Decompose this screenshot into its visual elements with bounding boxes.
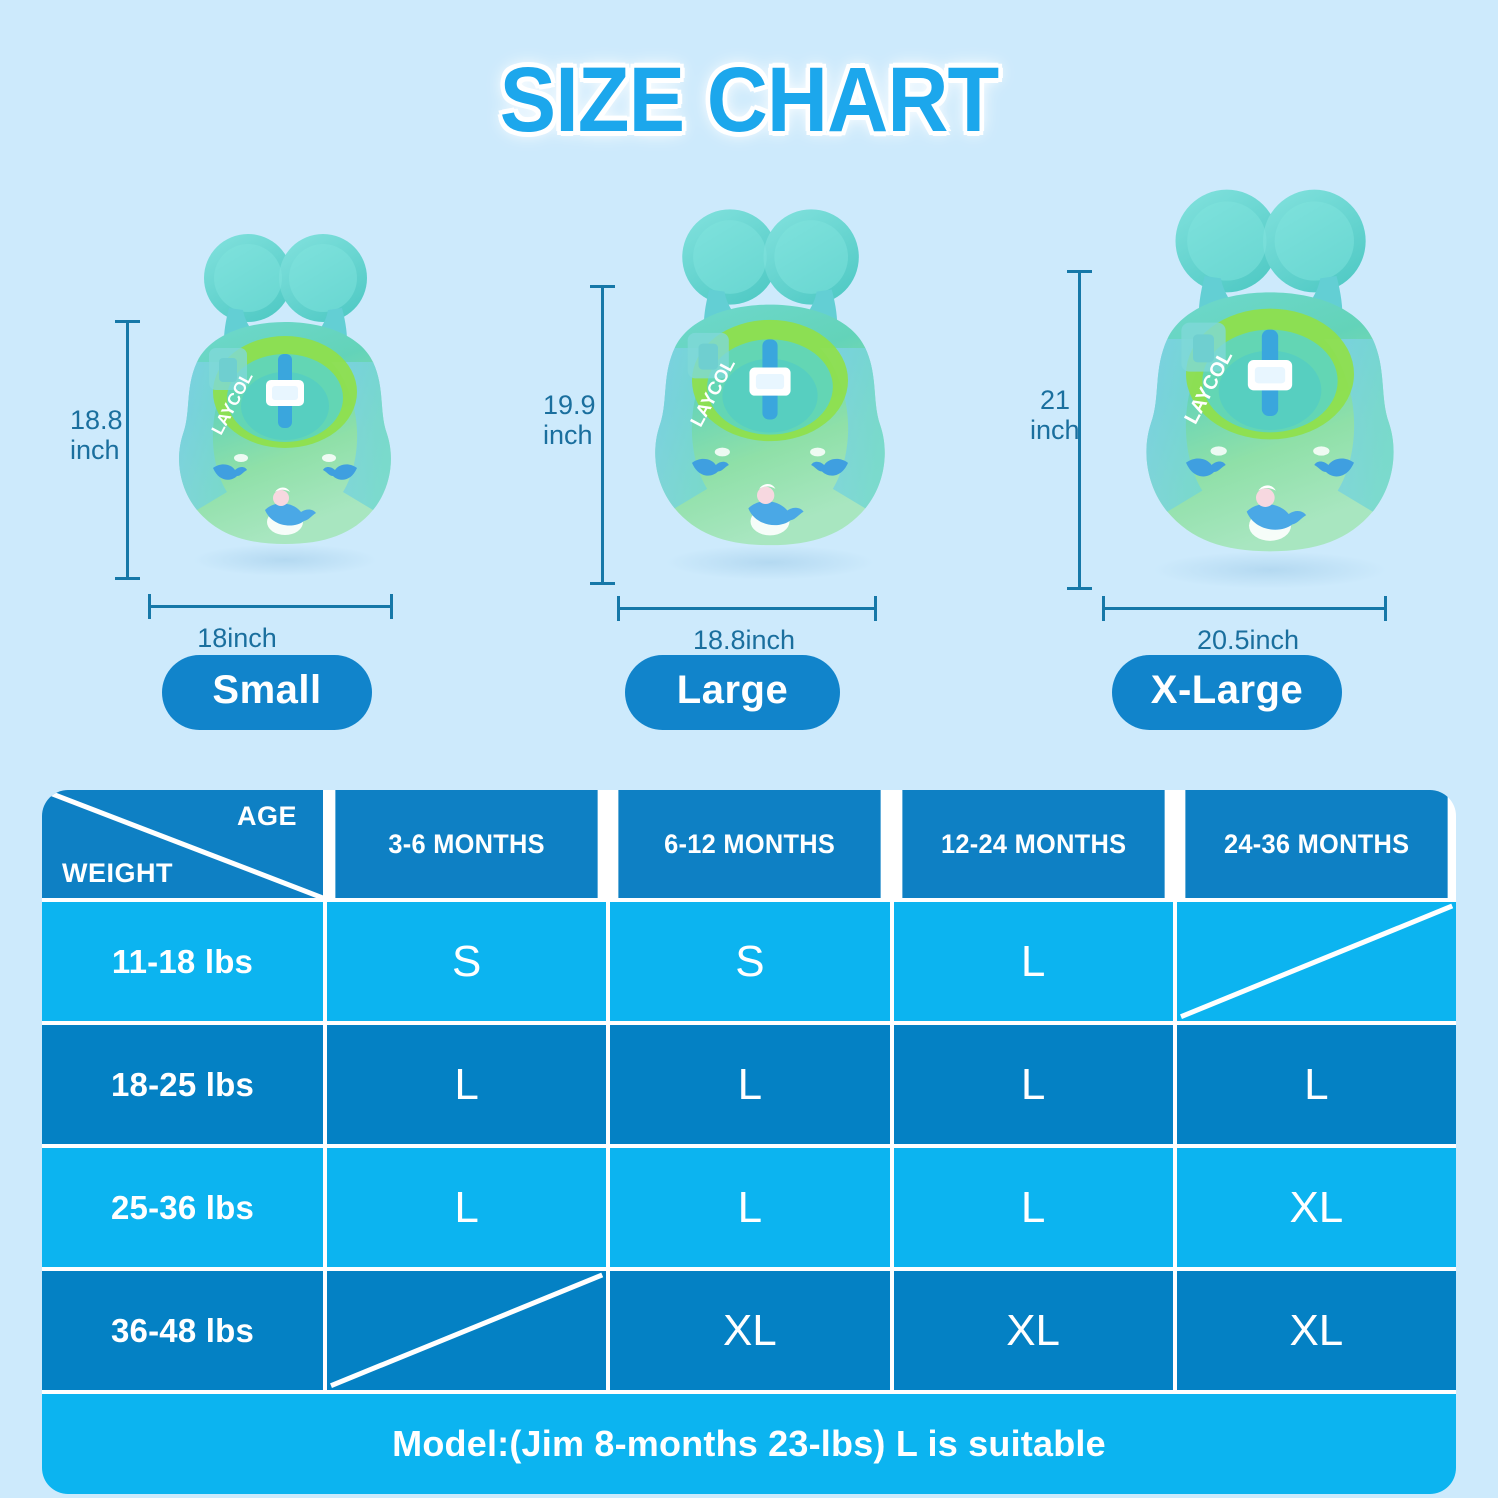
size-cell: L — [894, 902, 1173, 1021]
size-cell: XL — [1177, 1148, 1456, 1267]
column-header-3: 24-36 MONTHS — [1185, 790, 1447, 898]
table-row: 36-48 lbs XL XL XL — [42, 1271, 1456, 1390]
height-dimension-line — [126, 320, 129, 580]
table-footer-row: Model:(Jim 8-months 23-lbs) L is suitabl… — [42, 1394, 1456, 1494]
product-card-small: LAYCOL 18.8 inch 18inch Small — [80, 175, 470, 755]
column-header-2: 12-24 MONTHS — [902, 790, 1164, 898]
product-size-gallery: LAYCOL 18.8 inch 18inch Small — [0, 175, 1498, 755]
height-dimension-line — [601, 285, 604, 585]
table-row: 25-36 lbs L L L XL — [42, 1148, 1456, 1267]
height-dimension-label: 19.9 inch — [543, 390, 589, 450]
size-cell: L — [610, 1148, 889, 1267]
size-badge-large[interactable]: Large — [625, 655, 840, 730]
baby-float-illustration: LAYCOL — [605, 205, 935, 595]
size-cell: S — [610, 902, 889, 1021]
size-cell: XL — [610, 1271, 889, 1390]
row-weight-label: 36-48 lbs — [42, 1271, 323, 1390]
height-dimension-label: 18.8 inch — [70, 405, 116, 465]
row-weight-label: 18-25 lbs — [42, 1025, 323, 1144]
height-dimension-label: 21 inch — [1030, 385, 1070, 445]
float-image-small: LAYCOL — [80, 175, 470, 615]
width-dimension-label: 18inch — [42, 623, 432, 654]
size-badge-xlarge[interactable]: X-Large — [1112, 655, 1342, 730]
size-cell-unavailable — [1177, 902, 1456, 1021]
column-header-1: 6-12 MONTHS — [619, 790, 881, 898]
size-cell: L — [610, 1025, 889, 1144]
page-title: SIZE CHART — [500, 48, 999, 153]
size-cell: L — [1177, 1025, 1456, 1144]
size-cell: L — [327, 1025, 606, 1144]
width-dimension-label: 20.5inch — [1023, 625, 1473, 656]
width-dimension-label: 18.8inch — [529, 625, 959, 656]
size-cell: XL — [894, 1271, 1173, 1390]
unavailable-diagonal-icon — [327, 1271, 606, 1390]
row-weight-label: 11-18 lbs — [42, 902, 323, 1021]
size-cell: S — [327, 902, 606, 1021]
row-weight-label: 25-36 lbs — [42, 1148, 323, 1267]
float-image-xlarge: LAYCOL — [1030, 175, 1480, 615]
unavailable-diagonal-icon — [1177, 902, 1456, 1021]
baby-float-illustration: LAYCOL — [1090, 185, 1450, 605]
size-cell: XL — [1177, 1271, 1456, 1390]
float-image-large: LAYCOL — [545, 175, 975, 615]
table-row: 11-18 lbs S S L — [42, 902, 1456, 1021]
width-dimension-line — [1102, 607, 1387, 610]
size-badge-small[interactable]: Small — [162, 655, 372, 730]
size-cell: L — [894, 1148, 1173, 1267]
product-card-xlarge: LAYCOL 21 inch 20.5inch X-Large — [1030, 175, 1480, 755]
size-cell: L — [894, 1025, 1173, 1144]
product-card-large: LAYCOL 19.9 inch 18.8inch Large — [545, 175, 975, 755]
baby-float-illustration: LAYCOL — [135, 230, 435, 590]
table-header-row: AGE WEIGHT 3-6 MONTHS 6-12 MONTHS 12-24 … — [42, 790, 1456, 898]
width-dimension-line — [148, 605, 393, 608]
corner-weight-label: WEIGHT — [62, 858, 173, 889]
column-header-0: 3-6 MONTHS — [335, 790, 597, 898]
table-row: 18-25 lbs L L L L — [42, 1025, 1456, 1144]
width-dimension-line — [617, 607, 877, 610]
corner-age-label: AGE — [237, 801, 297, 832]
model-note: Model:(Jim 8-months 23-lbs) L is suitabl… — [42, 1394, 1456, 1494]
size-chart-table: AGE WEIGHT 3-6 MONTHS 6-12 MONTHS 12-24 … — [42, 790, 1456, 1494]
table-corner-cell: AGE WEIGHT — [42, 790, 323, 898]
size-cell: L — [327, 1148, 606, 1267]
size-cell-unavailable — [327, 1271, 606, 1390]
page-title-container: SIZE CHART — [0, 48, 1498, 153]
